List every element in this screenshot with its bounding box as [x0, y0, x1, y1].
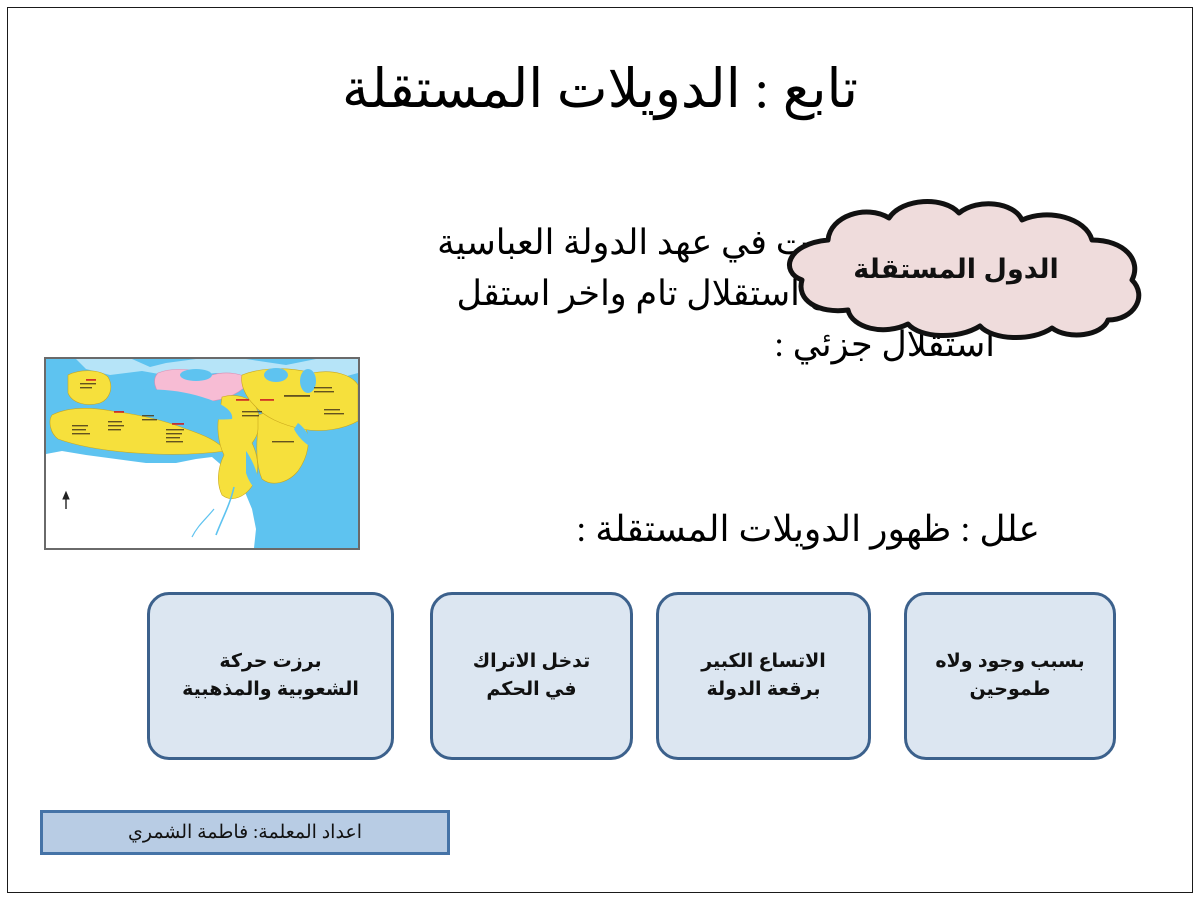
cloud-label: الدول المستقلة — [756, 254, 1156, 285]
cloud-callout: الدول المستقلة — [756, 196, 1156, 341]
reason-box-4[interactable]: برزت حركة الشعوبية والمذهبية — [147, 592, 394, 760]
map-graphic — [46, 359, 358, 548]
reason-box-2[interactable]: الاتساع الكبير برقعة الدولة — [656, 592, 871, 760]
teacher-credit-bar: اعداد المعلمة: فاطمة الشمري — [40, 810, 450, 855]
slide-title: تابع : الدويلات المستقلة — [0, 58, 1200, 120]
reason-box-3-text: تدخل الاتراك في الحكم — [463, 648, 601, 703]
reason-box-4-text: برزت حركة الشعوبية والمذهبية — [172, 648, 369, 703]
presentation-slide: تابع : الدويلات المستقلة هي دول ظهرت في … — [0, 0, 1200, 900]
reason-box-3[interactable]: تدخل الاتراك في الحكم — [430, 592, 633, 760]
reason-box-1[interactable]: بسبب وجود ولاه طموحين — [904, 592, 1116, 760]
reason-heading: علل : ظهور الدويلات المستقلة : — [576, 508, 1040, 550]
reason-box-1-text: بسبب وجود ولاه طموحين — [925, 648, 1094, 703]
reason-boxes-row: بسبب وجود ولاه طموحين الاتساع الكبير برق… — [114, 592, 1116, 760]
teacher-credit-text: اعداد المعلمة: فاطمة الشمري — [128, 821, 362, 844]
historical-map-image — [44, 357, 360, 550]
reason-box-2-text: الاتساع الكبير برقعة الدولة — [691, 648, 836, 703]
